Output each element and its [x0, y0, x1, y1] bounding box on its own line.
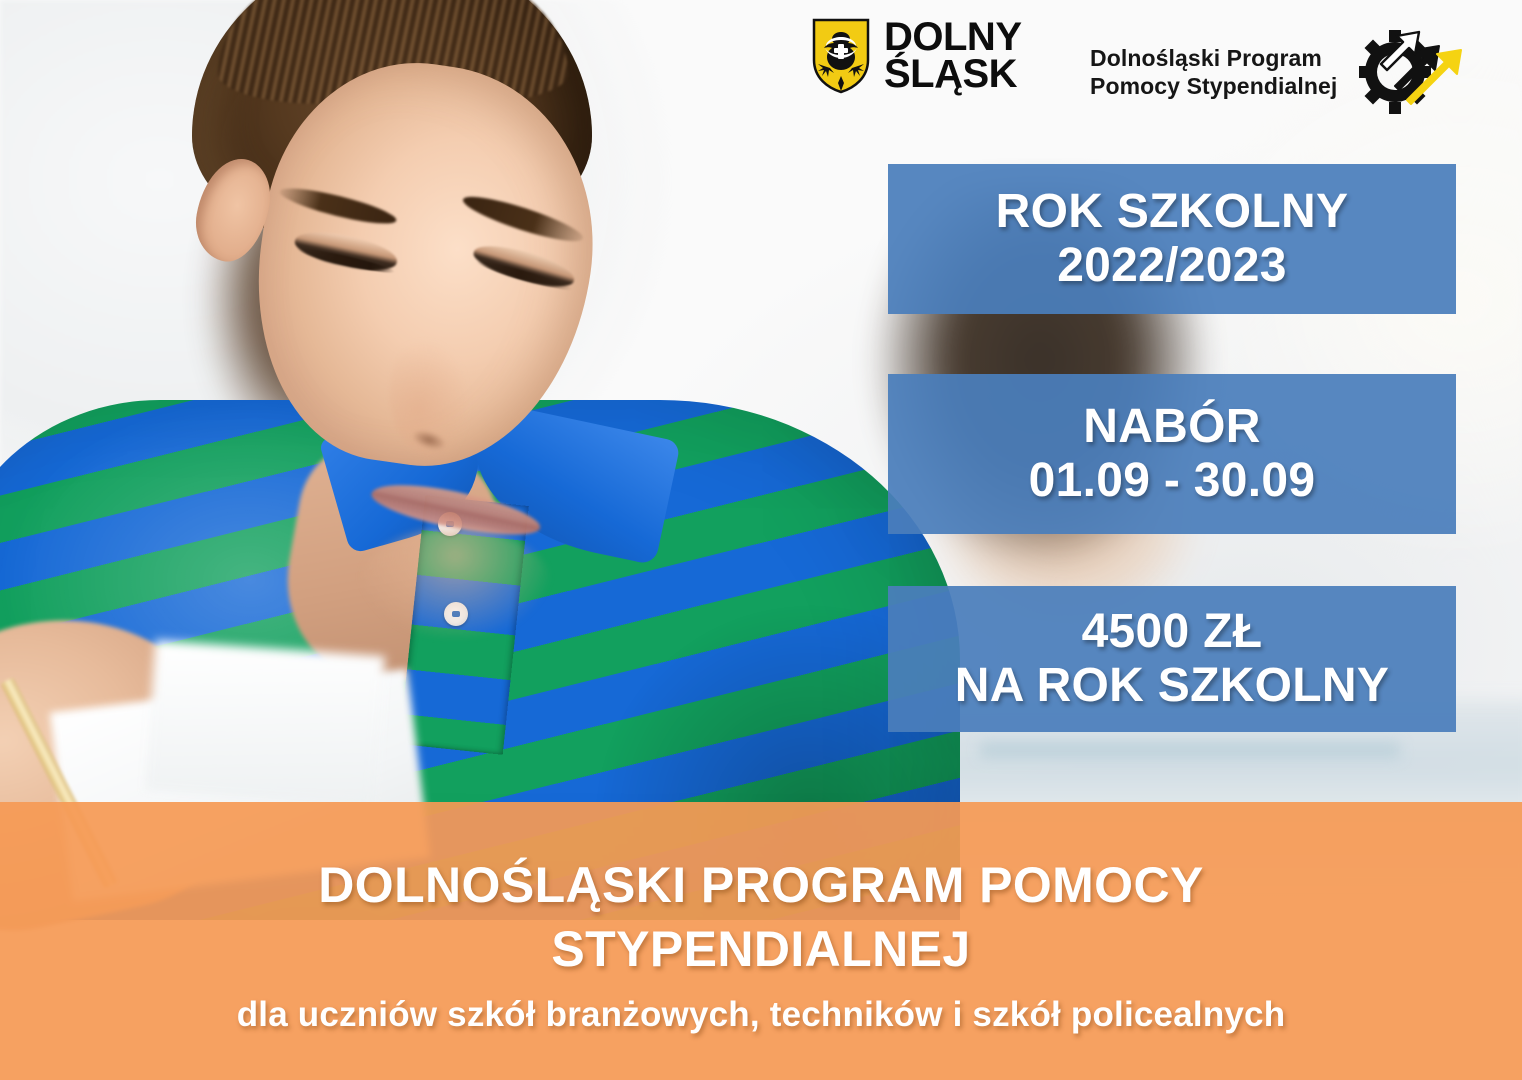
intake-dates: 01.09 - 30.09 — [1029, 454, 1316, 508]
school-year-value: 2022/2023 — [1057, 239, 1287, 293]
dolny-slask-wordmark: DOLNY ŚLĄSK — [884, 19, 1022, 93]
blurred-desk-edge — [980, 742, 1400, 758]
school-year-label: ROK SZKOLNY — [996, 185, 1349, 239]
amount-period: NA ROK SZKOLNY — [955, 659, 1389, 713]
header-logos: DOLNY ŚLĄSK Dolnośląski Program Pomocy S… — [0, 0, 1522, 130]
program-logo-line2: Pomocy Stypendialnej — [1090, 72, 1337, 100]
program-logo: Dolnośląski Program Pomocy Stypendialnej — [1090, 24, 1463, 120]
banner-title: DOLNOŚLĄSKI PROGRAM POMOCY STYPENDIALNEJ — [171, 853, 1351, 981]
poster-root: DOLNY ŚLĄSK Dolnośląski Program Pomocy S… — [0, 0, 1522, 1080]
logo-line-dolny: DOLNY — [884, 19, 1022, 56]
logo-line-slask: ŚLĄSK — [884, 56, 1022, 93]
notebook-page — [145, 640, 385, 806]
banner-subtitle: dla uczniów szkół branżowych, techników … — [237, 995, 1286, 1035]
orange-banner: DOLNOŚLĄSKI PROGRAM POMOCY STYPENDIALNEJ… — [0, 802, 1522, 1080]
info-box-amount: 4500 ZŁ NA ROK SZKOLNY — [888, 586, 1456, 732]
program-logo-line1: Dolnośląski Program — [1090, 44, 1337, 72]
dolny-slask-logo: DOLNY ŚLĄSK — [812, 18, 1022, 94]
amount-value: 4500 ZŁ — [1082, 605, 1263, 659]
intake-label: NABÓR — [1083, 400, 1261, 454]
info-box-school-year: ROK SZKOLNY 2022/2023 — [888, 164, 1456, 314]
dolny-slask-crest-icon — [812, 18, 870, 94]
info-box-intake: NABÓR 01.09 - 30.09 — [888, 374, 1456, 534]
gear-arrows-icon — [1351, 24, 1463, 120]
program-logo-text: Dolnośląski Program Pomocy Stypendialnej — [1090, 44, 1337, 100]
chin — [360, 528, 550, 638]
